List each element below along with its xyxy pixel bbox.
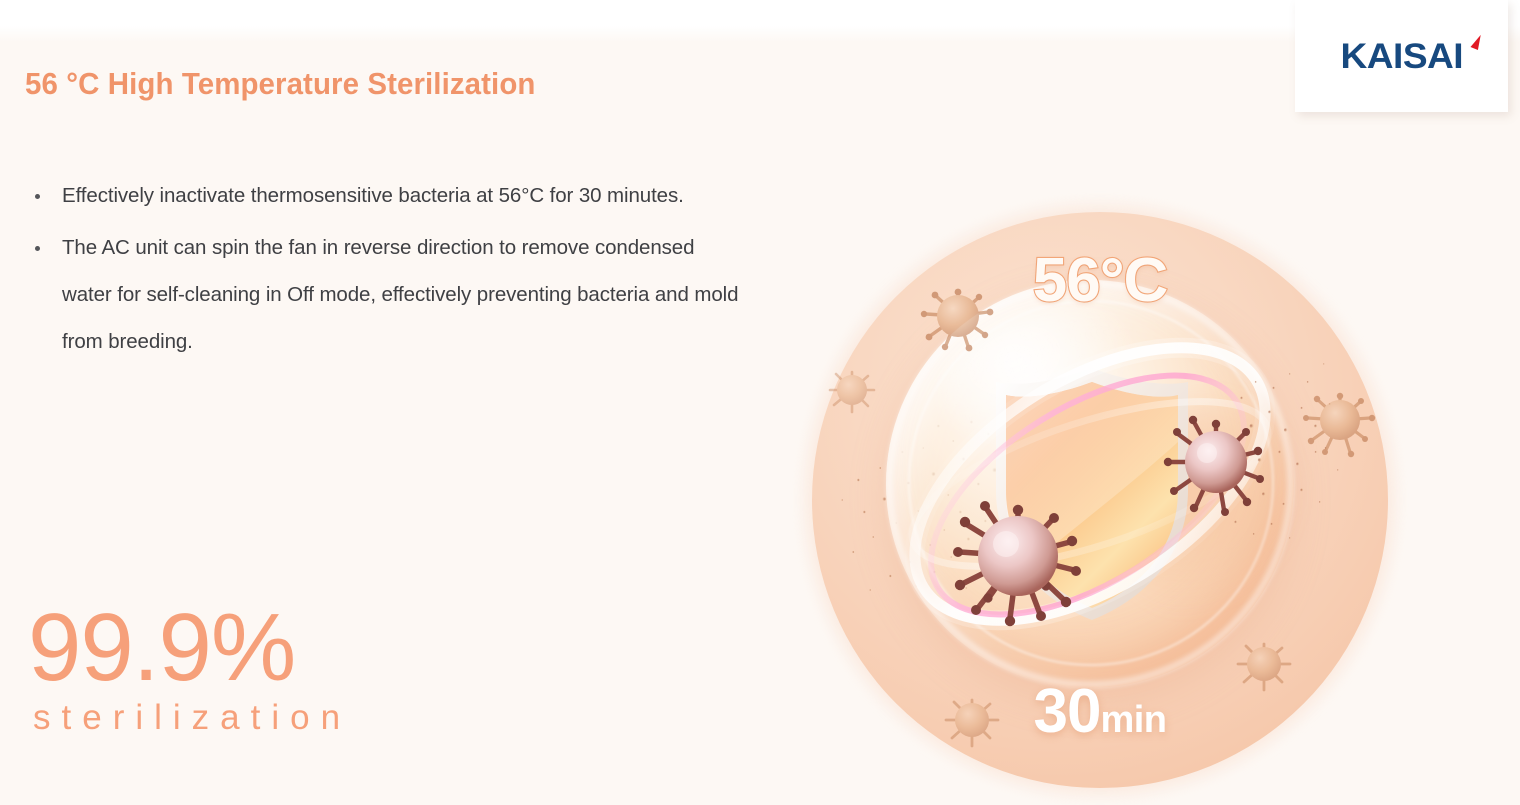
- feature-bullet-list: Effectively inactivate thermosensitive b…: [24, 172, 744, 370]
- duration-label: 30min: [812, 682, 1388, 758]
- brand-logo-card: KAISAI: [1295, 0, 1508, 112]
- kaisai-logo-text: KAISAI: [1340, 39, 1463, 74]
- stat-value: 99.9%: [28, 600, 351, 696]
- slide-canvas: KAISAI 56 °C High Temperature Sterilizat…: [0, 0, 1520, 805]
- virus-particle-right: [1164, 416, 1264, 516]
- duration-unit: min: [1100, 699, 1166, 741]
- sterilization-sphere-illustration: 56°C 30min: [812, 212, 1388, 788]
- flame-accent-icon: [1470, 33, 1483, 50]
- page-title: 56 °C High Temperature Sterilization: [25, 66, 536, 102]
- sterilization-stat: 99.9% sterilization: [28, 600, 351, 738]
- duration-value: 30: [1033, 677, 1100, 746]
- kaisai-logo: KAISAI: [1317, 33, 1487, 79]
- virus-particle-far-left: [830, 372, 874, 412]
- virus-particle-left: [953, 501, 1081, 626]
- top-band-fade: [0, 26, 1520, 42]
- stat-caption: sterilization: [33, 698, 351, 738]
- list-item: The AC unit can spin the fan in reverse …: [24, 224, 744, 365]
- temperature-label: 56°C: [812, 250, 1388, 312]
- list-item: Effectively inactivate thermosensitive b…: [24, 172, 744, 219]
- virus-particle-right-edge: [1303, 393, 1375, 457]
